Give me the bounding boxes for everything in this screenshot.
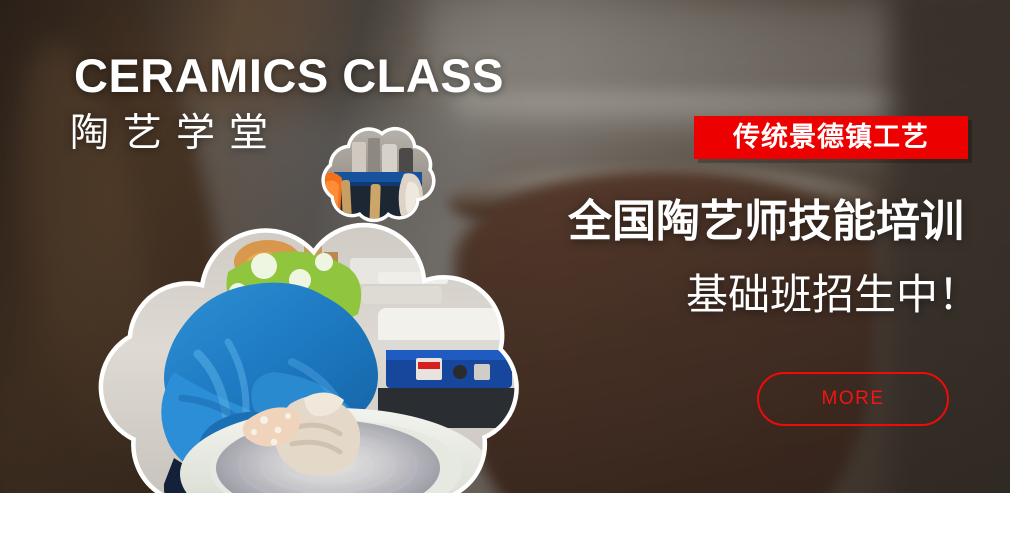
cloud-photo-small <box>312 124 442 228</box>
cloud-image-small <box>312 124 442 228</box>
ceramics-class-banner: CERAMICS CLASS 陶艺学堂 <box>0 0 1010 538</box>
status-badge: 传统景德镇工艺 <box>694 116 968 159</box>
more-button-label: MORE <box>822 388 885 410</box>
cloud-image-large <box>78 222 540 538</box>
cloud-photo-large <box>78 222 540 538</box>
status-badge-label: 传统景德镇工艺 <box>733 124 929 151</box>
bottom-white-band <box>0 493 1010 538</box>
page-title-english: CERAMICS CLASS <box>74 52 504 99</box>
subheadline-text: 基础班招生中！ <box>686 272 980 318</box>
headline-text: 全国陶艺师技能培训 <box>568 198 964 246</box>
more-button[interactable]: MORE <box>757 372 949 426</box>
page-title-chinese: 陶艺学堂 <box>70 110 282 159</box>
